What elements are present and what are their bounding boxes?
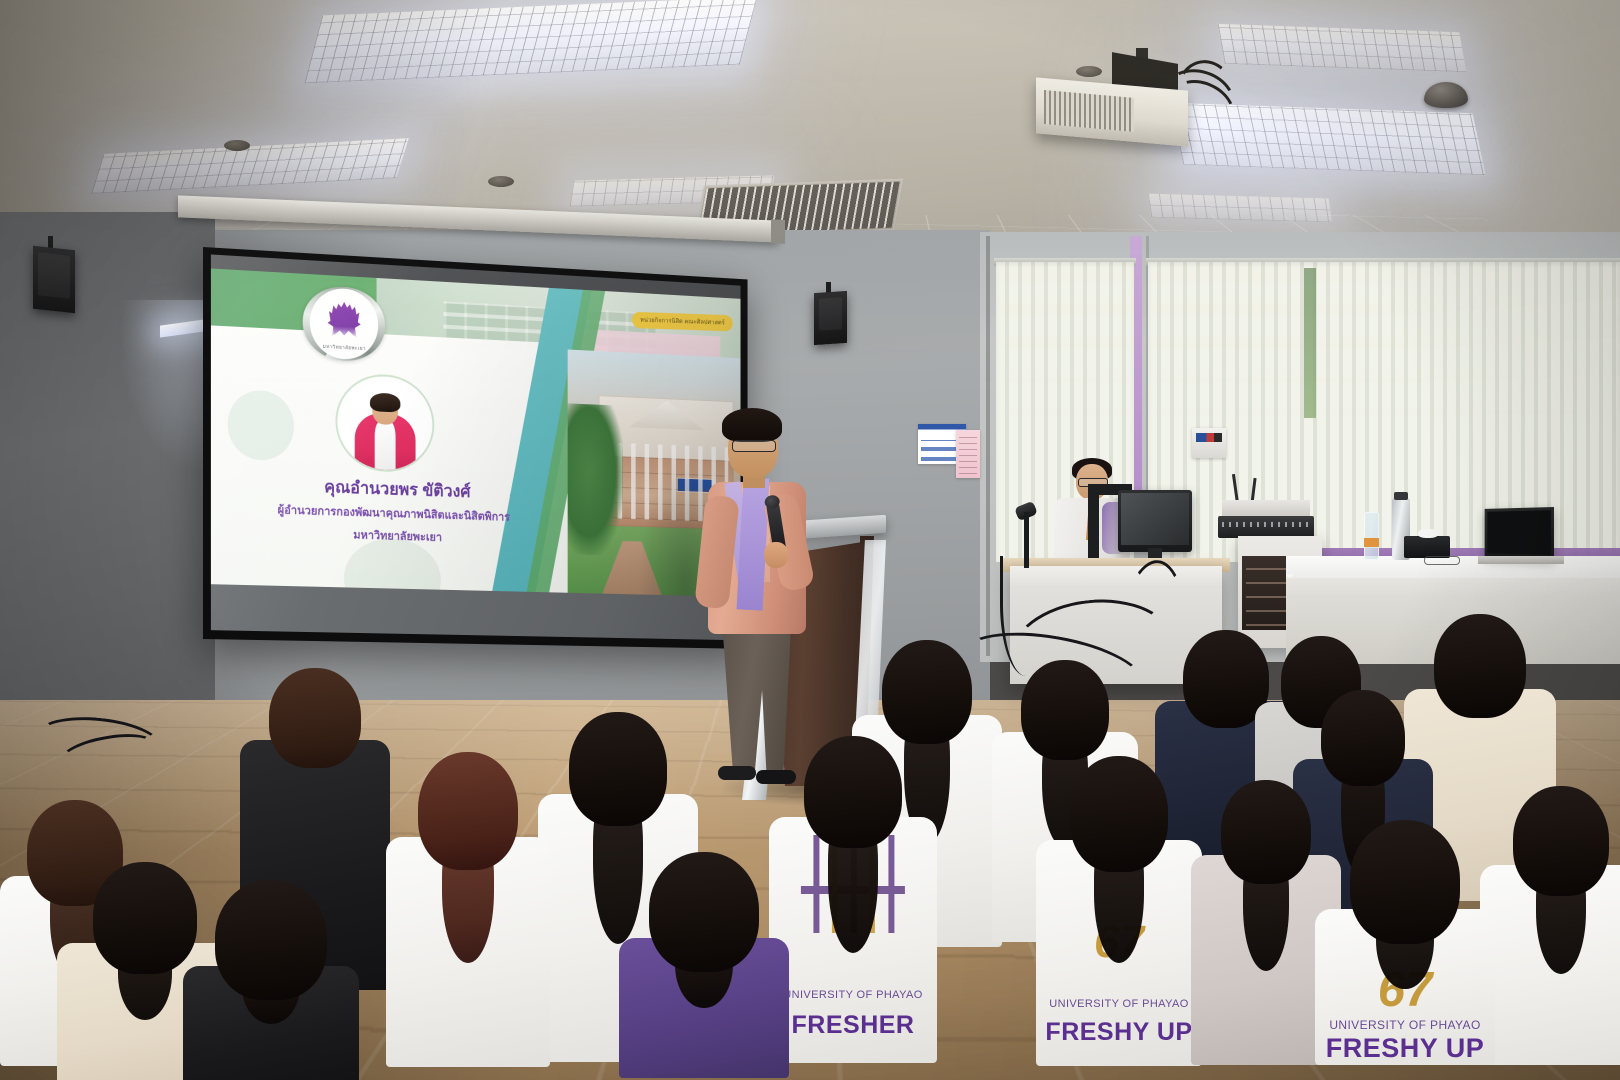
university-logo-crest-icon [326, 301, 362, 338]
audience-member-head [269, 668, 361, 768]
laptop-base [1478, 556, 1564, 564]
screen-surface: มหาวิทยาลัยพะเยา หน่วยกิจการนิสิต คณะศิล… [211, 254, 741, 640]
audience-member-head [215, 880, 327, 1000]
presenter-hand [764, 542, 788, 568]
audience-member-head [882, 640, 972, 744]
screen-housing-cap [771, 219, 785, 244]
shirt-logo: FRESHER [792, 1011, 915, 1040]
audience-member-head [1070, 756, 1168, 872]
shirt-subtitle: UNIVERSITY OF PHAYAO [1329, 1018, 1480, 1032]
audience-member-head [1221, 780, 1311, 884]
audience-member-head [804, 736, 902, 848]
eyeglasses[interactable] [1424, 556, 1460, 565]
wall-speaker [33, 246, 75, 313]
slide-department-badge: หน่วยกิจการนิสิต คณะศิลปศาสตร์ [632, 312, 733, 332]
portrait-hair [370, 393, 400, 413]
presenter-glasses [732, 440, 776, 452]
audience-member-head [1434, 614, 1526, 718]
desktop-monitor[interactable] [1118, 490, 1192, 552]
shirt-logo: FRESHY UP [1326, 1033, 1485, 1064]
monitor-arm [1088, 486, 1099, 562]
audience-member [398, 752, 538, 1080]
wall-speaker [814, 291, 847, 345]
audience-member [624, 852, 784, 1080]
wall-control-box[interactable] [1192, 428, 1226, 458]
window-gap [1304, 268, 1316, 418]
laptop[interactable] [1485, 507, 1554, 559]
audience-member [186, 880, 356, 1080]
seminar-room-photo: มหาวิทยาลัยพะเยา หน่วยกิจการนิสิต คณะศิล… [0, 0, 1620, 1080]
projector-vent-grille [1044, 90, 1134, 132]
projection-screen: มหาวิทยาลัยพะเยา หน่วยกิจการนิสิต คณะศิล… [203, 247, 748, 649]
audience-member-head [93, 862, 197, 974]
shirt-subtitle: UNIVERSITY OF PHAYAO [783, 989, 922, 1001]
audience-member-head [1350, 820, 1460, 944]
audience-member-head [418, 752, 518, 870]
audience-member: 67UNIVERSITY OF PHAYAOFRESHY UP [1044, 756, 1194, 1080]
portrait-scarf [375, 421, 396, 474]
wall-notice-poster [956, 430, 980, 478]
presentation-slide: มหาวิทยาลัยพะเยา หน่วยกิจการนิสิต คณะศิล… [211, 268, 741, 596]
audience-member: UNIVERSITY OF PHAYAOFRESHER [778, 736, 928, 1080]
av-receiver[interactable] [1222, 500, 1310, 516]
university-logo-caption: มหาวิทยาลัยพะเยา [323, 343, 366, 353]
tissue-box[interactable] [1404, 536, 1450, 558]
audience-member-head [1021, 660, 1109, 760]
shirt-logo: FRESHY UP [1045, 1018, 1192, 1047]
audience-member [1486, 786, 1620, 1080]
audience-member-head [1321, 690, 1405, 786]
audio-mixer[interactable] [1218, 516, 1314, 538]
audience-member: 67UNIVERSITY OF PHAYAOFRESHY UP [1320, 820, 1490, 1080]
presenter-hair [722, 408, 782, 442]
water-bottle[interactable] [1364, 512, 1379, 560]
dome-camera-icon [1424, 82, 1468, 108]
wall-seam [986, 236, 990, 656]
slide-photo-tree [567, 403, 623, 556]
shirt-subtitle: UNIVERSITY OF PHAYAO [1049, 998, 1188, 1010]
audience-member-head [1513, 786, 1609, 896]
audience-member-head [569, 712, 667, 826]
audience-member-head [649, 852, 759, 972]
presenter-shoe [718, 766, 756, 780]
